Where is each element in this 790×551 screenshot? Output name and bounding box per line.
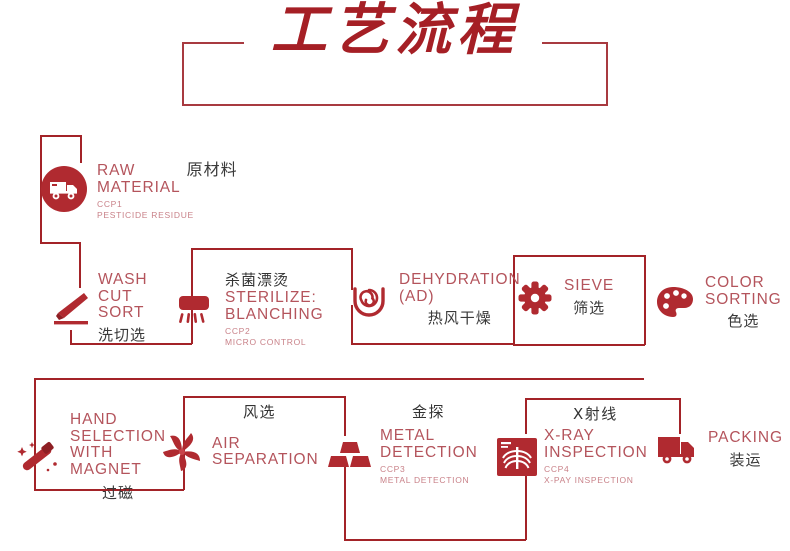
spiral-bowl-dryer-icon bbox=[348, 279, 390, 321]
step-color-sorting[interactable]: COLOR SORTING 色选 bbox=[655, 275, 782, 331]
connector-sieve-bottom bbox=[513, 344, 645, 346]
step-dehydration[interactable]: DEHYDRATION (AD) 热风干燥 bbox=[348, 272, 521, 328]
connector-metal-bottom bbox=[344, 539, 526, 541]
step-label-cn: 原材料 bbox=[187, 156, 238, 180]
step-hand-selection-magnet[interactable]: HAND SELECTION WITH MAGNET 过磁 bbox=[14, 412, 166, 503]
truck-circle-icon bbox=[40, 165, 88, 213]
title-frame: 工艺流程 bbox=[182, 42, 608, 106]
step-sieve[interactable]: SIEVE 筛选 bbox=[518, 278, 614, 318]
step-label-cn: 热风干燥 bbox=[399, 307, 521, 328]
connector-sterilize-top bbox=[191, 248, 352, 250]
step-label-cn: 装运 bbox=[708, 449, 783, 470]
truck-icon bbox=[656, 433, 700, 467]
palette-icon bbox=[655, 285, 695, 321]
process-flow-diagram: 工艺流程 bbox=[0, 0, 790, 551]
step-label-cn: 洗切选 bbox=[98, 324, 148, 345]
step-label-en: PACKING bbox=[708, 430, 783, 447]
connector-row3-top bbox=[34, 378, 644, 380]
step-ccp-note: CCP3 METAL DETECTION bbox=[380, 464, 478, 486]
page-title: 工艺流程 bbox=[182, 2, 608, 58]
sterilizer-spray-icon bbox=[172, 288, 216, 332]
xray-ribcage-icon bbox=[496, 436, 538, 478]
step-x-ray-inspection[interactable]: X-RAY INSPECTION CCP4 X-PAY INSPECTION bbox=[496, 428, 648, 486]
step-label-cn: 筛选 bbox=[564, 297, 614, 318]
connector-row1-top bbox=[40, 135, 82, 137]
step-wash-cut-sort[interactable]: WASH CUT SORT 洗切选 bbox=[48, 272, 148, 345]
step-label-en: WASH CUT SORT bbox=[98, 272, 148, 322]
connector-air-top bbox=[183, 396, 345, 398]
connector-sieve-top bbox=[513, 255, 645, 257]
step-packing[interactable]: PACKING 装运 bbox=[656, 430, 783, 470]
step-metal-detection[interactable]: METAL DETECTION CCP3 METAL DETECTION bbox=[326, 428, 478, 486]
step-label-en: RAW MATERIAL bbox=[97, 163, 181, 196]
step-sterilize-blanching[interactable]: 杀菌漂烫 STERILIZE: BLANCHING CCP2 MICRO CON… bbox=[172, 272, 324, 348]
title-frame-bottom bbox=[182, 104, 608, 106]
step-ccp-note: CCP1 PESTICIDE RESIDUE bbox=[97, 199, 238, 221]
step-label-en: METAL DETECTION bbox=[380, 428, 478, 461]
step-ccp-note: CCP4 X-PAY INSPECTION bbox=[544, 464, 648, 486]
magic-wand-magnet-icon bbox=[14, 434, 62, 482]
connector-dehydration-bottom bbox=[351, 343, 514, 345]
step-label-cn: 色选 bbox=[705, 310, 782, 331]
gear-icon bbox=[518, 281, 552, 315]
step-label-cn: 过磁 bbox=[70, 482, 166, 503]
fan-blades-icon bbox=[158, 428, 206, 476]
connector-colorsort-right bbox=[644, 255, 646, 345]
step-label-en: X-RAY INSPECTION bbox=[544, 428, 648, 461]
step-label-en: HAND SELECTION WITH MAGNET bbox=[70, 412, 166, 478]
connector-xray-top bbox=[525, 398, 680, 400]
step-ccp-note: CCP2 MICRO CONTROL bbox=[225, 326, 324, 348]
gold-bars-icon bbox=[326, 436, 374, 478]
step-label-cn-top: 杀菌漂烫 bbox=[225, 272, 324, 289]
connector-row1-bottom bbox=[40, 242, 80, 244]
knife-cutting-icon bbox=[48, 285, 92, 331]
air-separation-cn-caption: 风选 bbox=[243, 401, 276, 422]
connector-xray-right bbox=[679, 398, 681, 434]
step-label-en: SIEVE bbox=[564, 278, 614, 295]
step-raw-material[interactable]: RAW MATERIAL 原材料 CCP1 PESTICIDE RESIDUE bbox=[40, 156, 238, 221]
step-air-separation[interactable]: AIR SEPARATION bbox=[158, 428, 319, 476]
step-label-en: COLOR SORTING bbox=[705, 275, 782, 308]
step-label-en: STERILIZE: BLANCHING bbox=[225, 290, 324, 323]
xray-cn-caption: X射线 bbox=[573, 403, 618, 424]
metal-detection-cn-caption: 金探 bbox=[412, 401, 445, 422]
step-label-en: AIR SEPARATION bbox=[212, 436, 319, 469]
step-label-en: DEHYDRATION (AD) bbox=[399, 272, 521, 305]
